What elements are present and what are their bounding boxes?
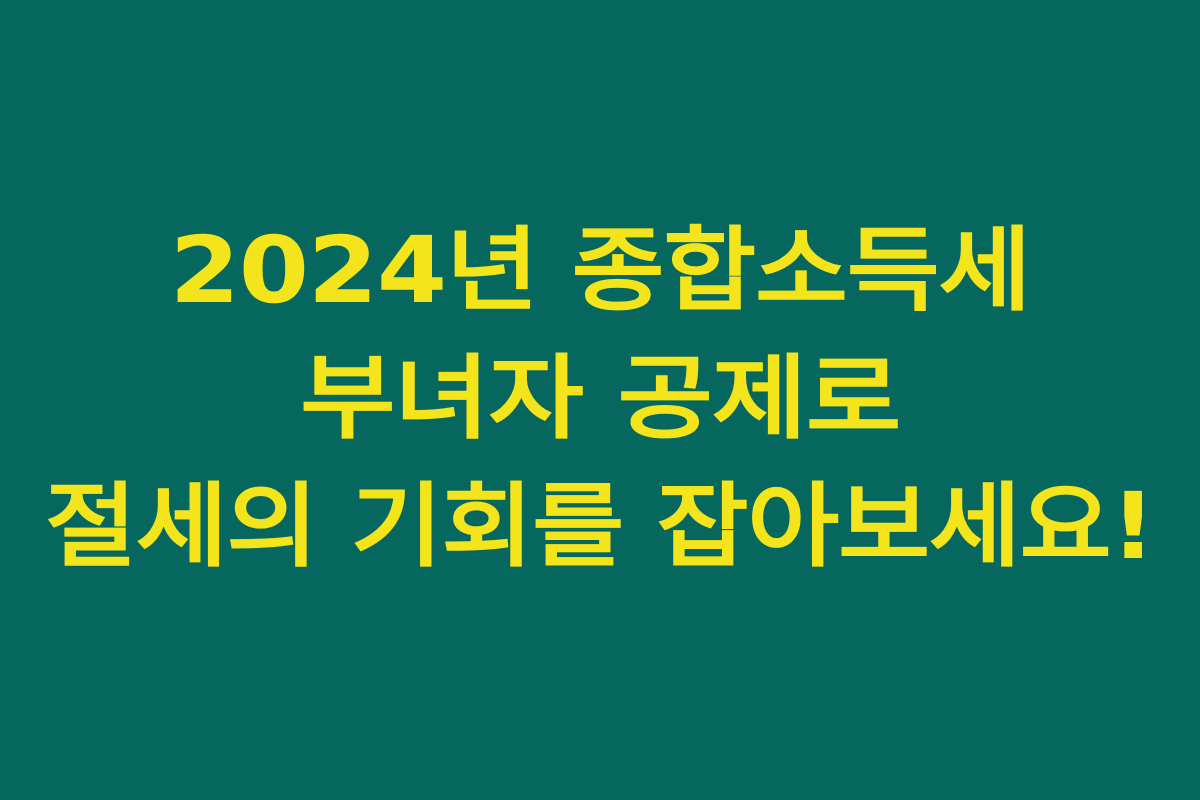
headline-block: 2024년 종합소득세 부녀자 공제로 절세의 기회를 잡아보세요! <box>0 225 1200 573</box>
headline-line-2: 부녀자 공제로 <box>300 353 900 445</box>
poster-canvas: 2024년 종합소득세 부녀자 공제로 절세의 기회를 잡아보세요! <box>0 0 1200 800</box>
headline-line-1: 2024년 종합소득세 <box>170 225 1030 317</box>
headline-line-3: 절세의 기회를 잡아보세요! <box>45 481 1155 573</box>
